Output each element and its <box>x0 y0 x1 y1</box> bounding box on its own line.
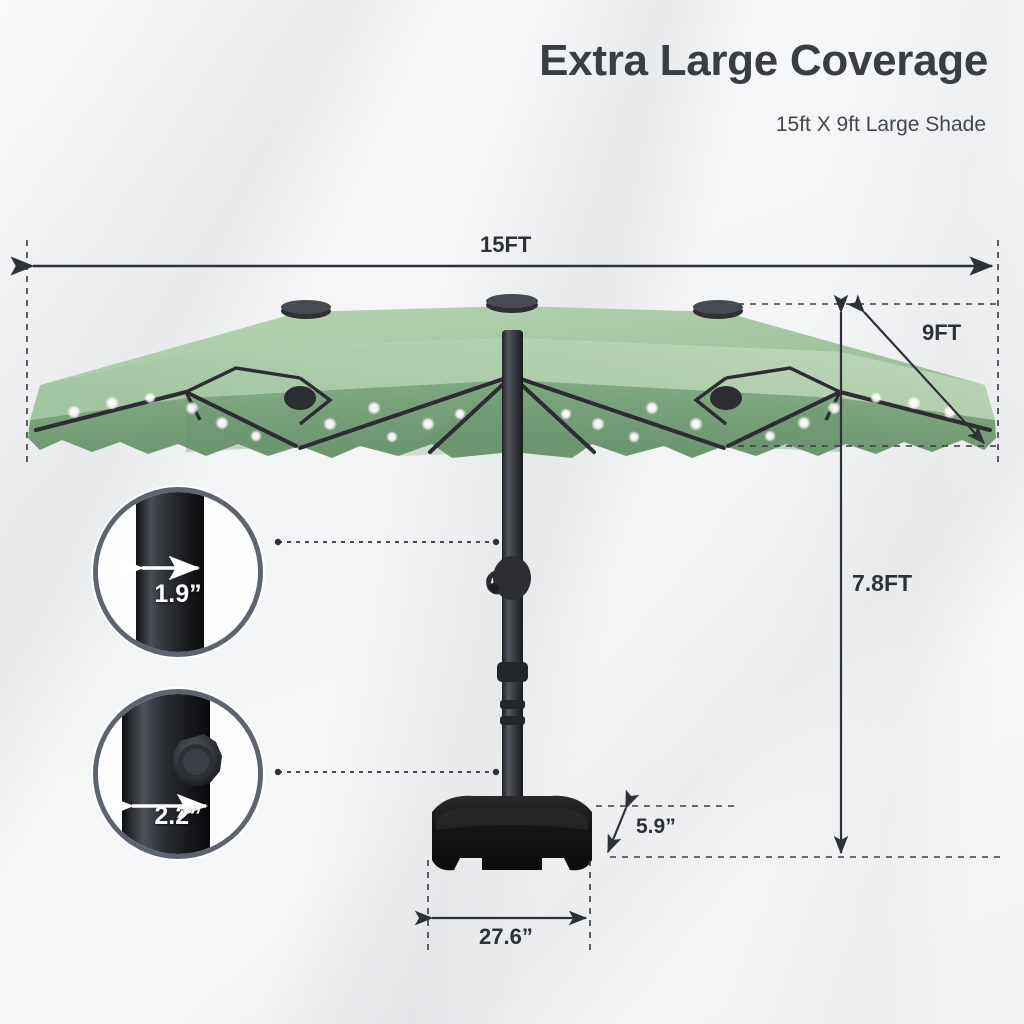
dimension-arrow-5-9in <box>608 808 626 852</box>
dimension-label-base-height: 5.9” <box>636 815 676 839</box>
pole-diameter-callout: 1.9” <box>98 492 258 652</box>
dimension-label-depth: 9FT <box>922 320 961 346</box>
callout-leader-lines <box>275 539 499 775</box>
dimension-label-width: 15FT <box>480 232 531 258</box>
crank-knob-callout: 2.2” <box>98 694 258 854</box>
left-hub <box>284 386 316 410</box>
dimension-label-height: 7.8FT <box>852 570 912 597</box>
pole-closeup-graphic <box>98 492 258 652</box>
product-dimension-diagram: Extra Large Coverage 15ft X 9ft Large Sh… <box>0 0 1024 1024</box>
knob-closeup-graphic <box>98 694 258 854</box>
umbrella-base <box>432 796 592 870</box>
right-hub <box>710 386 742 410</box>
crank-handle-icon <box>489 556 531 600</box>
dimension-label-base-width: 27.6” <box>479 924 533 950</box>
